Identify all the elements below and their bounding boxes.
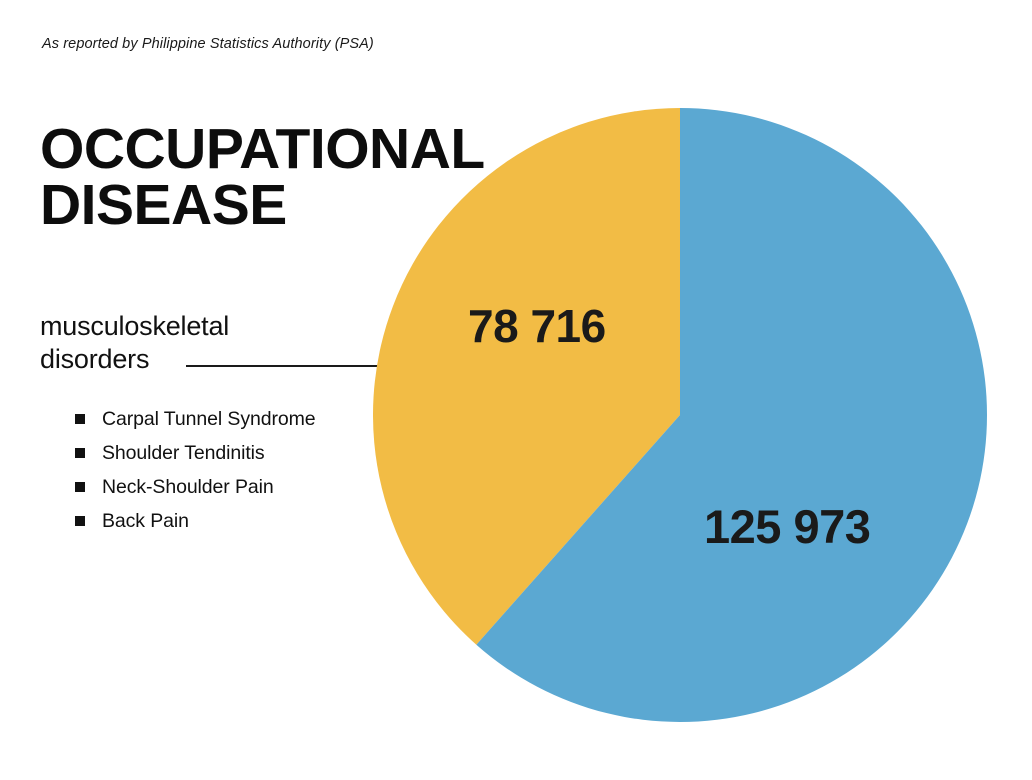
bullet-square-icon [75,516,85,526]
bullet-square-icon [75,482,85,492]
pie-slice-value-musculoskeletal: 78 716 [468,299,606,353]
symptom-list: Carpal Tunnel Syndrome Shoulder Tendinit… [75,402,316,538]
infographic-page: As reported by Philippine Statistics Aut… [0,0,1032,780]
list-item: Back Pain [75,504,316,538]
pie-chart: 78 716 125 973 [373,108,987,722]
list-item: Neck-Shoulder Pain [75,470,316,504]
list-item: Shoulder Tendinitis [75,436,316,470]
list-item-label: Neck-Shoulder Pain [102,476,274,499]
list-item-label: Carpal Tunnel Syndrome [102,408,316,431]
bullet-square-icon [75,414,85,424]
list-item-label: Back Pain [102,510,189,533]
pie-slice-value-other: 125 973 [704,499,870,554]
bullet-square-icon [75,448,85,458]
pie-chart-svg [373,108,987,722]
list-item: Carpal Tunnel Syndrome [75,402,316,436]
source-note: As reported by Philippine Statistics Aut… [42,36,374,52]
list-item-label: Shoulder Tendinitis [102,442,265,465]
